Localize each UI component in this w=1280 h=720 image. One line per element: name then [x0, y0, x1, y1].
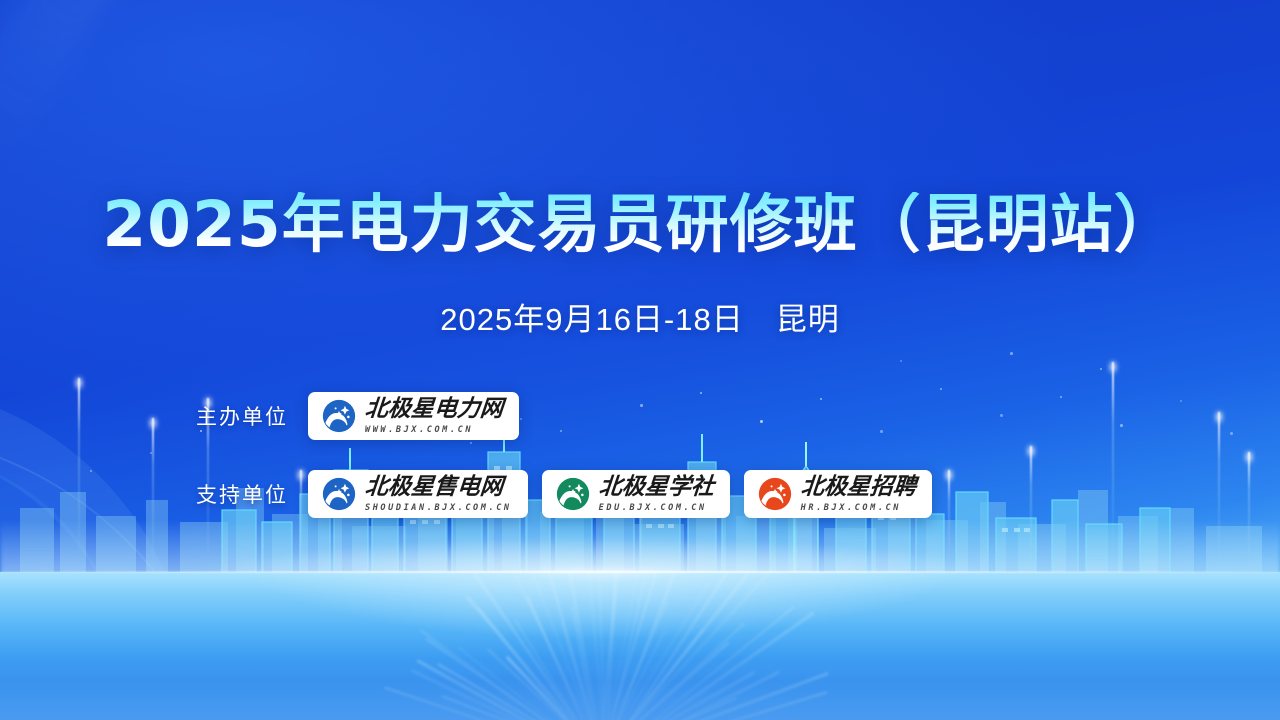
logo-url: SHOUDIAN.BJX.COM.CN: [365, 503, 512, 513]
support-logo-card[interactable]: 北极星学社EDU.BJX.COM.CN: [542, 470, 730, 518]
bjx-edu-logo-icon: [556, 477, 590, 511]
host-organizer-label: 主办单位: [196, 401, 308, 431]
logo-url: WWW.BJX.COM.CN: [365, 425, 503, 435]
poster-stage: 2025年电力交易员研修班（昆明站） 2025年9月16日-18日 昆明 主办单…: [0, 0, 1280, 720]
host-logo-card[interactable]: 北极星电力网WWW.BJX.COM.CN: [308, 392, 519, 440]
logo-name: 北极星招聘: [800, 476, 917, 499]
event-date-location: 2025年9月16日-18日 昆明: [0, 294, 1280, 339]
host-logo-list: 北极星电力网WWW.BJX.COM.CN: [308, 392, 533, 440]
support-logo-card[interactable]: 北极星招聘HR.BJX.COM.CN: [744, 470, 932, 518]
logo-url: HR.BJX.COM.CN: [801, 503, 916, 513]
logo-name: 北极星售电网: [364, 476, 513, 499]
logo-name: 北极星电力网: [364, 398, 504, 421]
logo-url: EDU.BJX.COM.CN: [599, 503, 714, 513]
bjx-shoudian-logo-icon: [322, 477, 356, 511]
logo-text-block: 北极星招聘HR.BJX.COM.CN: [801, 476, 916, 513]
logo-text-block: 北极星学社EDU.BJX.COM.CN: [599, 476, 714, 513]
host-organizer-row: 主办单位 北极星电力网WWW.BJX.COM.CN: [196, 392, 533, 440]
logo-name: 北极星学社: [598, 476, 715, 499]
support-logo-card[interactable]: 北极星售电网SHOUDIAN.BJX.COM.CN: [308, 470, 528, 518]
support-organizer-label: 支持单位: [196, 479, 308, 509]
logo-text-block: 北极星售电网SHOUDIAN.BJX.COM.CN: [365, 476, 512, 513]
poster-content: 2025年电力交易员研修班（昆明站） 2025年9月16日-18日 昆明 主办单…: [0, 0, 1280, 720]
bjx-hr-logo-icon: [758, 477, 792, 511]
support-organizer-row: 支持单位 北极星售电网SHOUDIAN.BJX.COM.CN北极星学社EDU.B…: [196, 470, 946, 518]
page-title: 2025年电力交易员研修班（昆明站）: [0, 192, 1280, 258]
bjx-logo-icon: [322, 399, 356, 433]
logo-text-block: 北极星电力网WWW.BJX.COM.CN: [365, 398, 503, 435]
support-logo-list: 北极星售电网SHOUDIAN.BJX.COM.CN北极星学社EDU.BJX.CO…: [308, 470, 946, 518]
